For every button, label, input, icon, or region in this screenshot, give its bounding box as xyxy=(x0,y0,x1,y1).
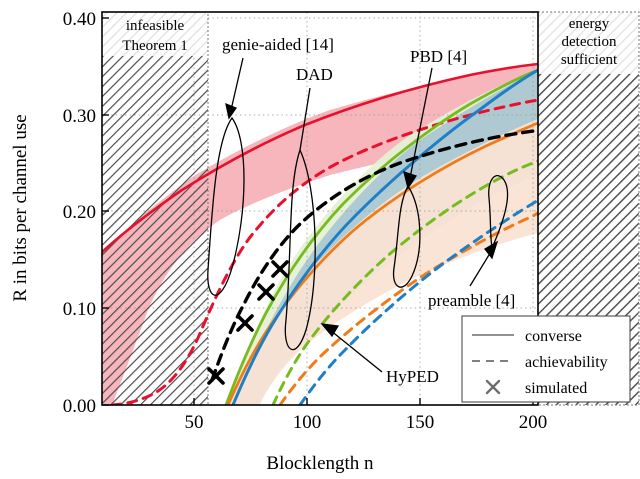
y-tick-label: 0.40 xyxy=(63,9,96,30)
y-tick-label: 0.10 xyxy=(63,299,96,320)
legend-label-converse: converse xyxy=(525,328,582,345)
x-tick-label: 200 xyxy=(519,412,548,433)
x-tick-label: 50 xyxy=(185,412,204,433)
region-label-line: energy xyxy=(569,16,610,32)
legend-label-achievability: achievability xyxy=(525,354,608,371)
y-tick-label: 0.00 xyxy=(63,396,96,417)
region-label-line: sufficient xyxy=(561,52,618,68)
callout-pbd: PBD [4] xyxy=(410,47,467,66)
y-tick-label: 0.30 xyxy=(63,106,96,127)
callout-preamble: preamble [4] xyxy=(428,291,515,310)
y-tick-labels: 0.40 0.30 0.20 0.10 0.00 xyxy=(63,9,96,417)
chart-svg: 0.40 0.30 0.20 0.10 0.00 50 100 150 200 … xyxy=(0,0,640,479)
legend-box: converse achievability simulated xyxy=(462,316,630,402)
y-axis-title: R in bits per channel use xyxy=(10,114,31,301)
x-tick-label: 100 xyxy=(293,412,322,433)
callout-hyped: HyPED xyxy=(386,367,439,386)
x-tick-labels: 50 100 150 200 xyxy=(185,412,548,433)
callout-dad: DAD xyxy=(296,65,333,84)
callout-genie-aided: genie-aided [14] xyxy=(222,35,334,54)
region-label-line: infeasible xyxy=(126,18,185,34)
figure-container: 0.40 0.30 0.20 0.10 0.00 50 100 150 200 … xyxy=(0,0,640,479)
x-tick-label: 150 xyxy=(406,412,435,433)
y-tick-label: 0.20 xyxy=(63,202,96,223)
x-axis-title: Blocklength n xyxy=(266,453,374,474)
region-label-line: Theorem 1 xyxy=(122,38,187,54)
legend-label-simulated: simulated xyxy=(525,380,587,397)
region-label-line: detection xyxy=(562,34,617,50)
